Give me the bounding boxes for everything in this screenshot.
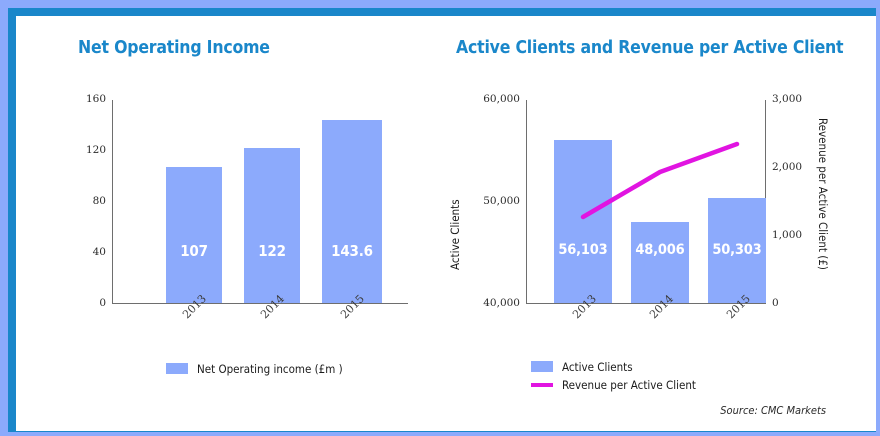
source-attribution: Source: CMC Markets [720, 404, 826, 417]
outer-frame-border: Net Operating Income 160 120 80 40 0 [0, 0, 880, 436]
legend-bar-swatch-icon [531, 361, 553, 372]
left-chart-title: Net Operating Income [78, 38, 270, 58]
right-ytick-label-40000: 40,000 [468, 297, 520, 309]
right-chart-legend: Active Clients Revenue per Active Client [531, 360, 696, 396]
right-y2tick-label-1000: 1,000 [772, 229, 818, 241]
left-chart-legend: Net Operating income (£m ) [166, 362, 343, 380]
right-y2tick-label-0: 0 [772, 297, 818, 309]
left-ytick-label-160: 160 [68, 93, 106, 105]
right-chart-y-axis-title: Active Clients [448, 199, 462, 270]
bar-2013 [166, 167, 222, 303]
bar-value-2014: 122 [244, 242, 300, 260]
legend-item-active-clients: Active Clients [531, 360, 696, 373]
right-plot-area: 60,000 50,000 40,000 3,000 2,000 1,000 0… [526, 100, 766, 304]
bar-2014 [244, 148, 300, 303]
left-ytick-label-120: 120 [68, 144, 106, 156]
legend-item-net-operating-income: Net Operating income (£m ) [166, 362, 343, 375]
left-plot-area: 160 120 80 40 0 107 122 143.6 2013 2014 [112, 100, 408, 304]
bar-2015 [322, 120, 382, 303]
right-y2tick-label-3000: 3,000 [772, 93, 818, 105]
legend-label-revenue-per-active-client: Revenue per Active Client [562, 378, 696, 392]
bar-value-2015: 143.6 [322, 242, 382, 260]
legend-line-swatch-icon [531, 383, 553, 387]
active-clients-panel: Active Clients and Revenue per Active Cl… [436, 16, 876, 431]
bar-value-2013: 107 [166, 242, 222, 260]
revenue-per-active-client-line [526, 100, 766, 304]
legend-bar-swatch-icon [166, 363, 188, 374]
right-chart-y2-axis-title: Revenue per Active Client (£) [816, 118, 830, 270]
left-ytick-label-40: 40 [68, 246, 106, 258]
legend-label-net-operating-income: Net Operating income (£m ) [197, 362, 343, 376]
left-y-axis-line [112, 100, 113, 304]
right-chart-title: Active Clients and Revenue per Active Cl… [456, 38, 843, 58]
left-ytick-label-80: 80 [68, 195, 106, 207]
right-ytick-label-60000: 60,000 [468, 93, 520, 105]
right-ytick-label-50000: 50,000 [468, 195, 520, 207]
net-operating-income-panel: Net Operating Income 160 120 80 40 0 [16, 16, 436, 431]
left-ytick-label-0: 0 [68, 297, 106, 309]
legend-label-active-clients: Active Clients [562, 360, 633, 374]
chart-canvas: Net Operating Income 160 120 80 40 0 [16, 16, 876, 431]
legend-item-revenue-per-active-client: Revenue per Active Client [531, 378, 696, 391]
right-y2tick-label-2000: 2,000 [772, 161, 818, 173]
inner-frame-border: Net Operating Income 160 120 80 40 0 [8, 8, 876, 432]
